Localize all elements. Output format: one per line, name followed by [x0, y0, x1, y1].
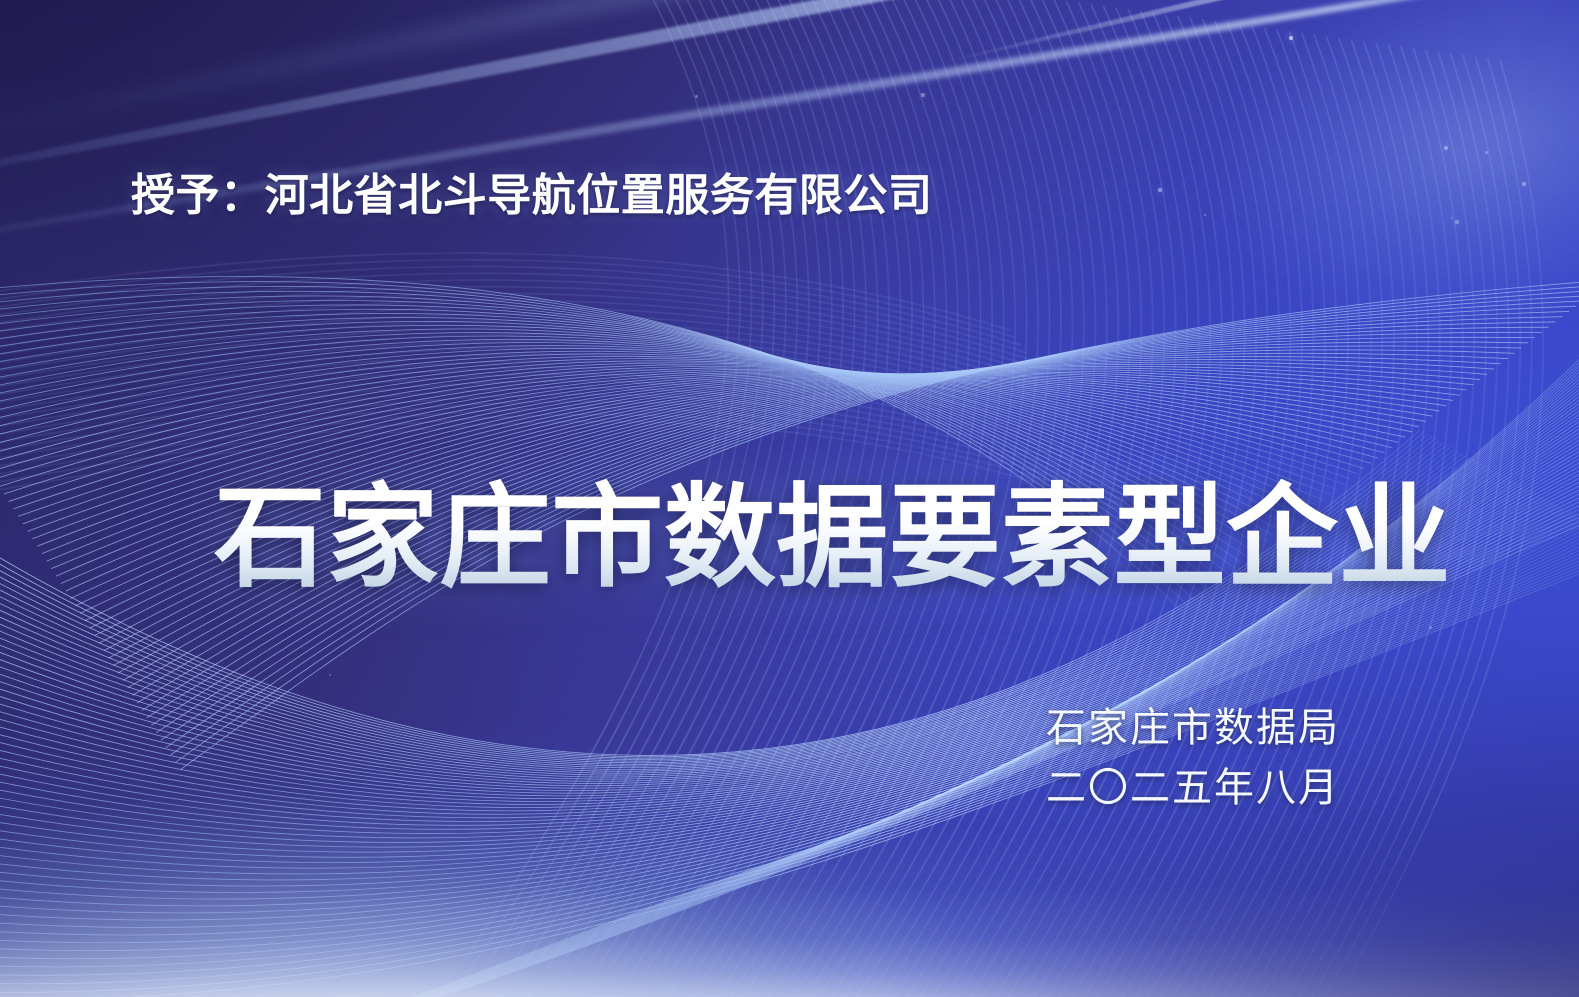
- issue-date: 二〇二五年八月: [1046, 758, 1340, 818]
- recipient-line: 授予：河北省北斗导航位置服务有限公司: [131, 168, 933, 223]
- award-poster: 授予：河北省北斗导航位置服务有限公司 石家庄市数据要素型企业 石家庄市数据局 二…: [0, 0, 1579, 997]
- page-title: 石家庄市数据要素型企业: [214, 479, 1451, 598]
- issuer-block: 石家庄市数据局 二〇二五年八月: [1046, 698, 1340, 818]
- text-layer: 授予：河北省北斗导航位置服务有限公司 石家庄市数据要素型企业 石家庄市数据局 二…: [0, 0, 1579, 997]
- issuing-authority: 石家庄市数据局: [1046, 698, 1340, 758]
